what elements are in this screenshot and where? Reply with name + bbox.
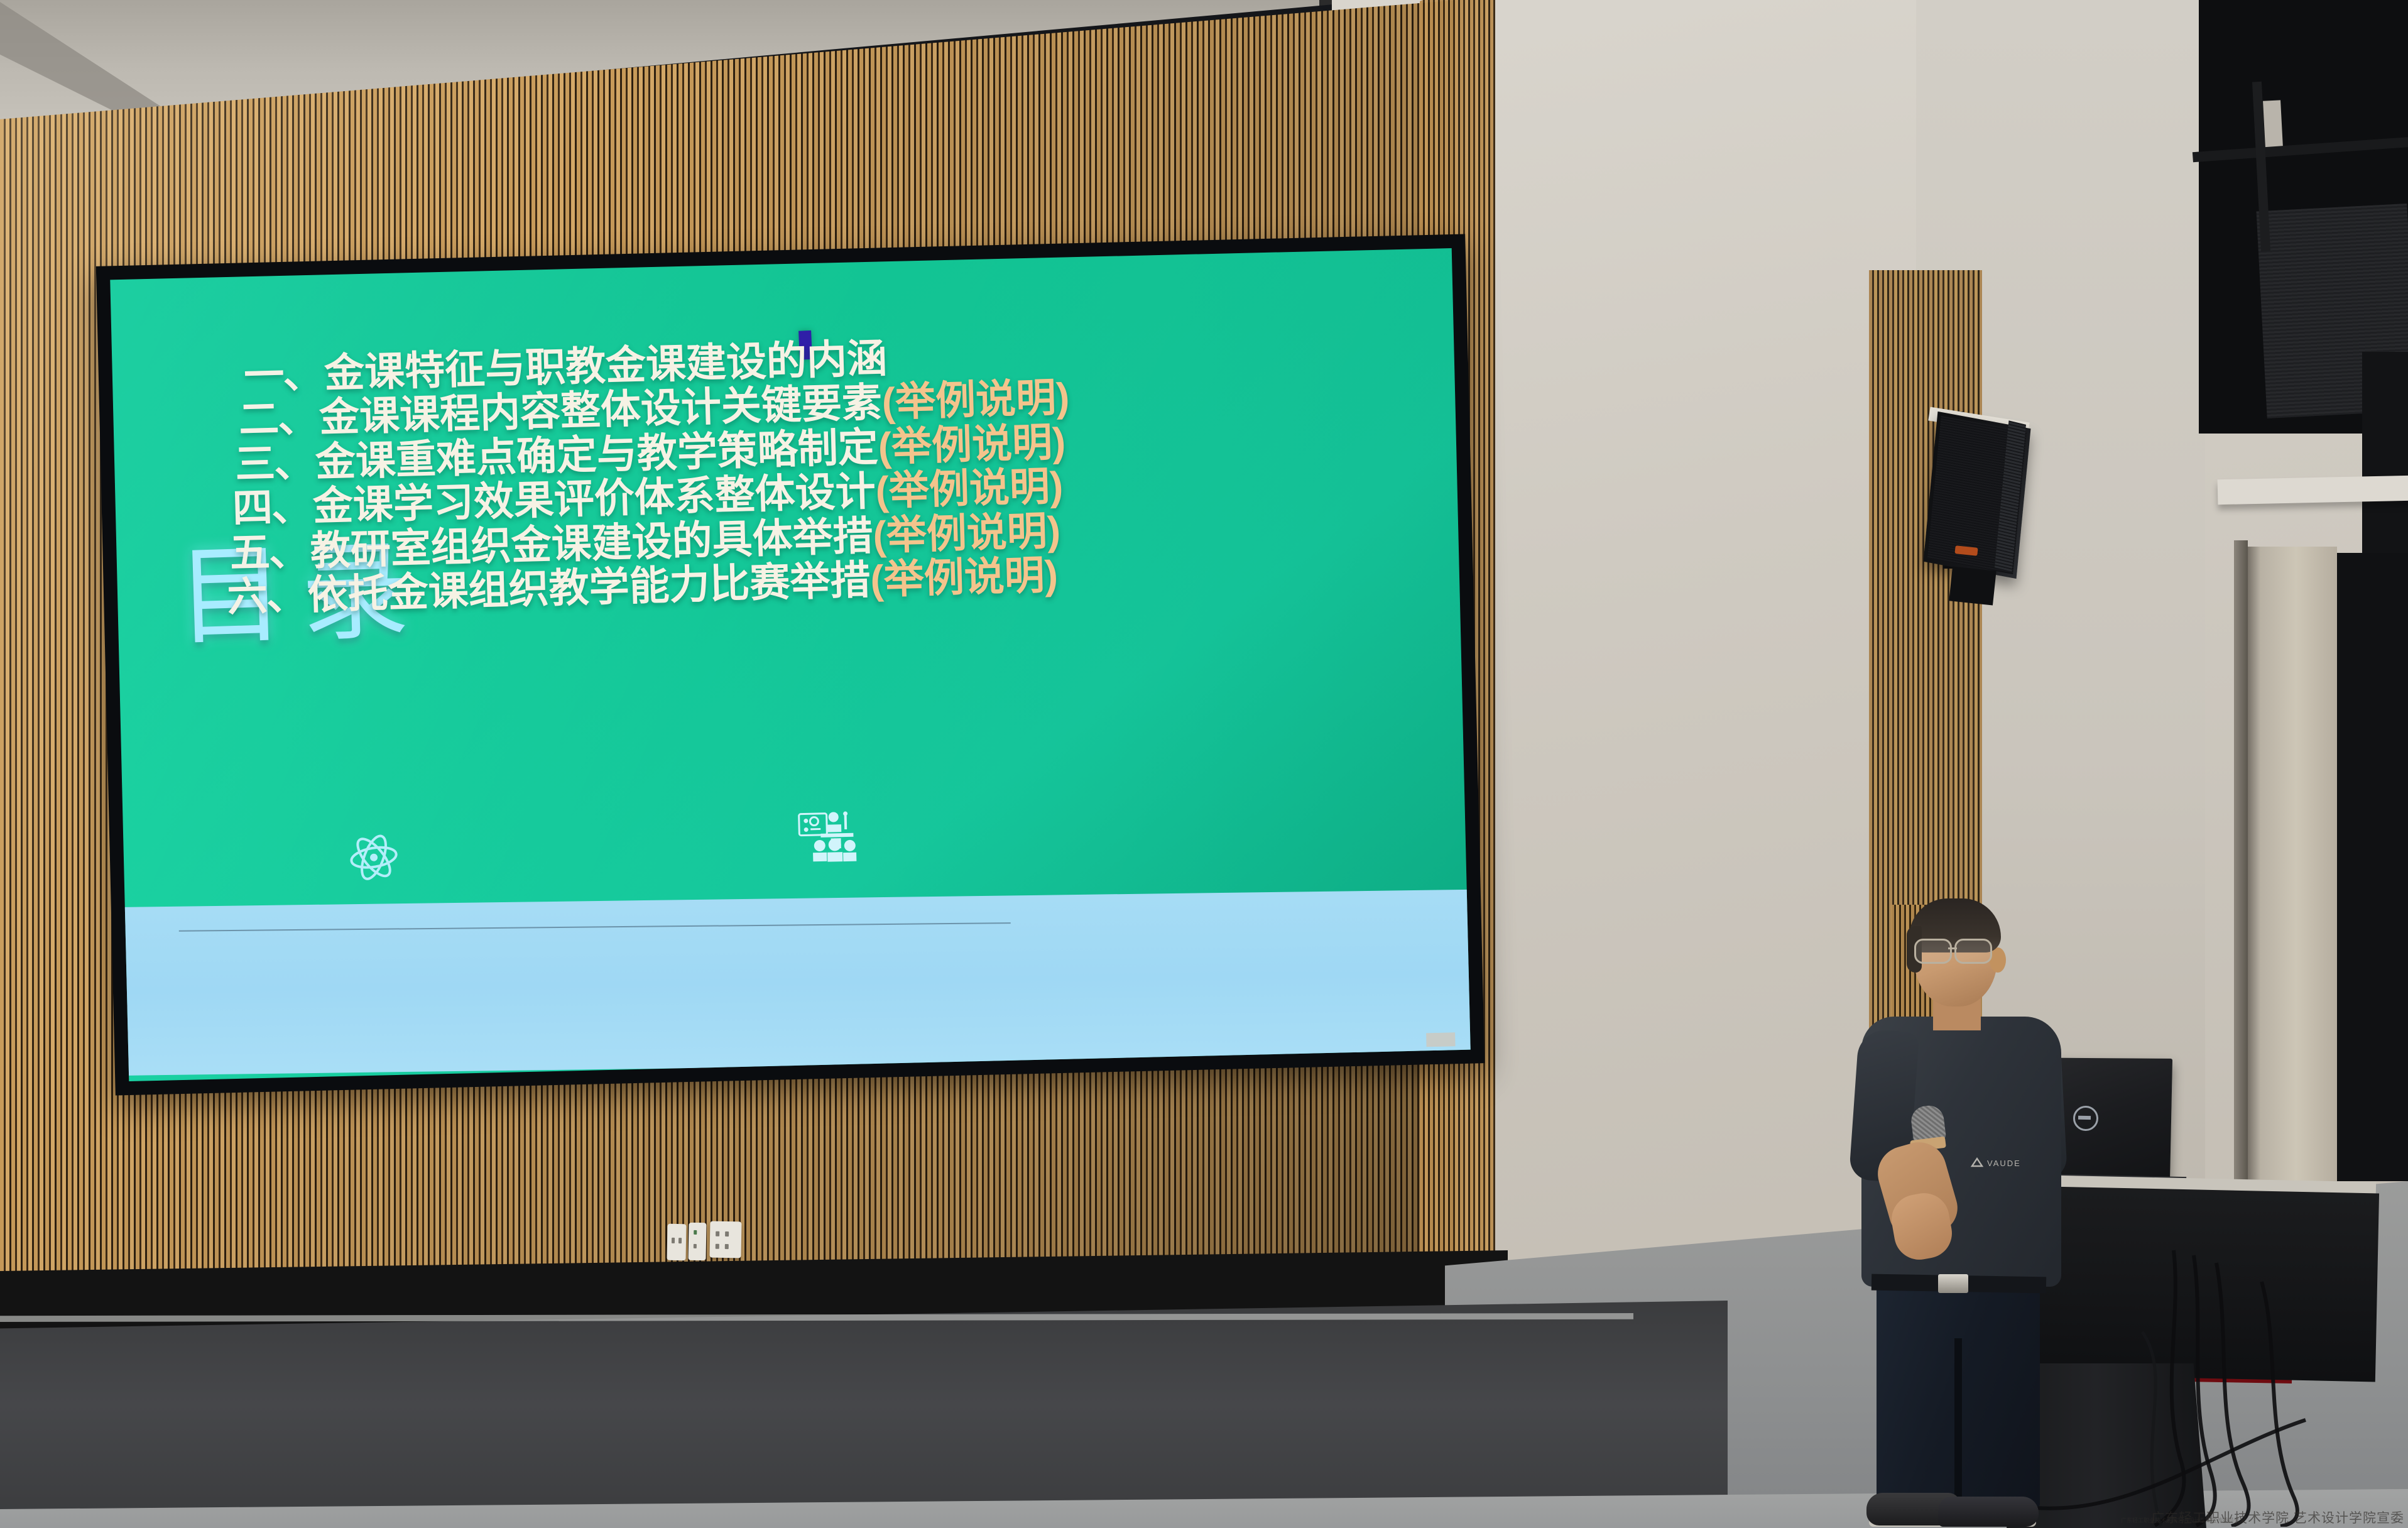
toc-item-number: 三、 (234, 440, 316, 486)
toc-item-note: (举例说明) (869, 553, 1058, 602)
wall-edge-shadow (2234, 540, 2248, 1225)
toc-item-number: 一、 (243, 351, 325, 398)
wall-outlet-left-group-2 (688, 1223, 706, 1260)
projection-screen[interactable]: 目录 一、 金课特征与职教金课建设的内涵 二、 金课课程内容整体设计关键要素 (… (96, 234, 1485, 1096)
glasses-bridge (1948, 947, 1957, 949)
presenter: VAUDE (1844, 898, 2108, 1527)
toc-item-note: (举例说明) (873, 508, 1061, 557)
wall-outlet-left-group-3 (709, 1221, 741, 1258)
watermark: 广东轻工职业技术学院 艺术设计学院宣委 (2151, 1508, 2404, 1527)
toc-item-number: 四、 (232, 484, 313, 531)
toc-item-note: (举例说明) (878, 420, 1066, 469)
lecture-presentation-icon (798, 810, 857, 869)
speaker-mount (1949, 566, 1996, 605)
toc-item-number: 六、 (227, 573, 308, 619)
toc-item-note: (举例说明) (875, 464, 1064, 513)
presenter-shoe-right (1938, 1497, 2039, 1527)
slide-bottom-band (110, 889, 1470, 1076)
toc-item-note: (举例说明) (881, 375, 1070, 424)
presenter-belt-buckle (1938, 1274, 1968, 1293)
carpet (0, 1301, 1728, 1528)
wall-outlet-left-group (667, 1224, 686, 1261)
toc-item-number: 五、 (229, 528, 311, 575)
glasses-lens-left (1914, 939, 1952, 964)
toc-item-number: 二、 (238, 396, 320, 442)
glasses-icon (1913, 939, 1998, 960)
shirt-brand-logo: VAUDE (1969, 1156, 2035, 1170)
slide-canvas: 目录 一、 金课特征与职教金课建设的内涵 二、 金课课程内容整体设计关键要素 (… (110, 248, 1470, 1081)
window-light-gap (2263, 100, 2283, 148)
door-header-ledge (2218, 476, 2408, 505)
presenter-leg-split (1954, 1338, 1962, 1507)
svg-text:VAUDE: VAUDE (1987, 1159, 2021, 1168)
screen-spec-sticker (1426, 1032, 1456, 1047)
lecture-hall-scene: 目录 一、 金课特征与职教金课建设的内涵 二、 金课课程内容整体设计关键要素 (… (0, 0, 2408, 1528)
curtain (2246, 547, 2337, 1219)
toc-list: 一、 金课特征与职教金课建设的内涵 二、 金课课程内容整体设计关键要素 (举例说… (229, 331, 1067, 619)
atom-icon (346, 830, 401, 888)
glasses-lens-right (1954, 939, 1992, 964)
